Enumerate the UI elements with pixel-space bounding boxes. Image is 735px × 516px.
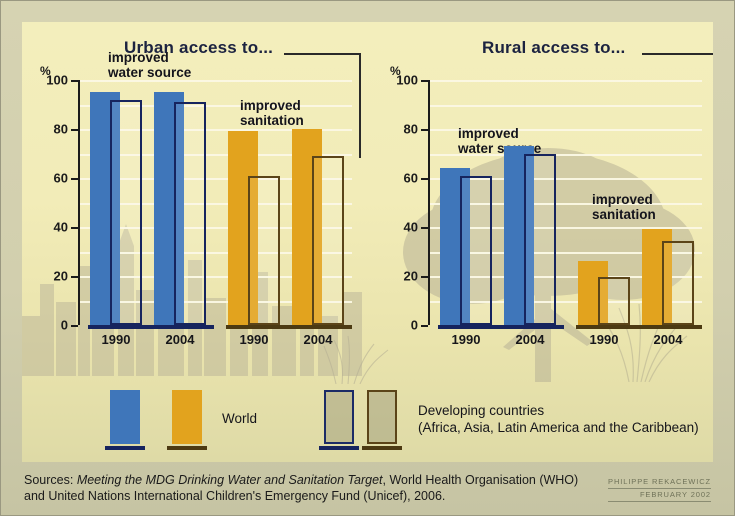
sources-line2: and United Nations International Childre… (24, 488, 584, 504)
bar-rural-water-1990-developing (460, 176, 492, 326)
category-label-urban-water-1990: 1990 (88, 332, 144, 347)
group-urban-water: 1990 2004 (88, 80, 214, 325)
y-tick-label-0: 0 (61, 318, 68, 333)
infographic-root: Urban access to... % 100 (0, 0, 735, 516)
legend-rule-world-sanitation (167, 446, 207, 450)
y-tick-label-0: 0 (411, 318, 418, 333)
group-rural-water: 1990 2004 (438, 80, 564, 325)
chart-rural: Rural access to... % 100 80 (382, 68, 712, 368)
bar-rural-sanitation-2004-developing (662, 241, 694, 326)
category-label-rural-sanitation-1990: 1990 (576, 332, 632, 347)
credit-author: PHILIPPE REKACEWICZ (608, 476, 711, 489)
category-label-rural-water-2004: 2004 (502, 332, 558, 347)
legend-label-developing: Developing countries (Africa, Asia, Lati… (418, 402, 699, 436)
legend-rule-world-water (105, 446, 145, 450)
y-tick-label-60: 60 (54, 171, 68, 186)
y-tick-label-100: 100 (396, 73, 418, 88)
bar-rural-water-2004-developing (524, 154, 556, 326)
credit-date: FEBRUARY 2002 (608, 489, 711, 502)
bar-rural-sanitation-1990-developing (598, 277, 630, 325)
baseline-urban-water (88, 325, 214, 329)
y-tick-label-40: 40 (404, 220, 418, 235)
chart-urban: Urban access to... % 100 (32, 68, 362, 368)
y-tick-label-80: 80 (404, 122, 418, 137)
bar-urban-sanitation-2004-developing (312, 156, 344, 325)
baseline-rural-water (438, 325, 564, 329)
author-credit: PHILIPPE REKACEWICZ FEBRUARY 2002 (608, 476, 711, 502)
baseline-rural-sanitation (576, 325, 702, 329)
label-urban-water-source: improved water source (108, 50, 191, 80)
category-label-urban-water-2004: 2004 (152, 332, 208, 347)
group-rural-sanitation: 1990 2004 (576, 80, 702, 325)
chart-rural-title: Rural access to... (482, 38, 625, 58)
y-tick-label-20: 20 (54, 269, 68, 284)
legend-rule-developing-sanitation (362, 446, 402, 450)
baseline-urban-sanitation (226, 325, 352, 329)
legend-rule-developing-water (319, 446, 359, 450)
chart-panel: Urban access to... % 100 (22, 22, 713, 462)
sources-rest: , World Health Organisation (WHO) (383, 473, 579, 487)
sources-prefix: Sources: (24, 473, 77, 487)
chart-urban-plot: 100 80 60 40 20 0 improved water source (80, 80, 352, 325)
group-urban-sanitation: 1990 2004 (226, 80, 352, 325)
category-label-urban-sanitation-1990: 1990 (226, 332, 282, 347)
sources-note: Sources: Meeting the MDG Drinking Water … (24, 472, 584, 504)
legend-swatch-developing-water (324, 390, 354, 444)
y-tick-label-100: 100 (46, 73, 68, 88)
bar-urban-sanitation-1990-developing (248, 176, 280, 326)
y-tick-label-20: 20 (404, 269, 418, 284)
category-label-urban-sanitation-2004: 2004 (290, 332, 346, 347)
legend: World Developing countries (Africa, Asia… (22, 388, 713, 450)
y-tick-label-60: 60 (404, 171, 418, 186)
legend-label-world: World (222, 410, 257, 427)
category-label-rural-water-1990: 1990 (438, 332, 494, 347)
y-tick-label-40: 40 (54, 220, 68, 235)
legend-swatch-developing-sanitation (367, 390, 397, 444)
category-label-rural-sanitation-2004: 2004 (640, 332, 696, 347)
y-tick-label-80: 80 (54, 122, 68, 137)
legend-swatch-world-water (110, 390, 140, 444)
sources-title: Meeting the MDG Drinking Water and Sanit… (77, 473, 383, 487)
bar-urban-water-2004-developing (174, 102, 206, 325)
chart-rural-plot: 100 80 60 40 20 0 improved water source (430, 80, 702, 325)
bar-urban-water-1990-developing (110, 100, 142, 325)
legend-swatch-world-sanitation (172, 390, 202, 444)
